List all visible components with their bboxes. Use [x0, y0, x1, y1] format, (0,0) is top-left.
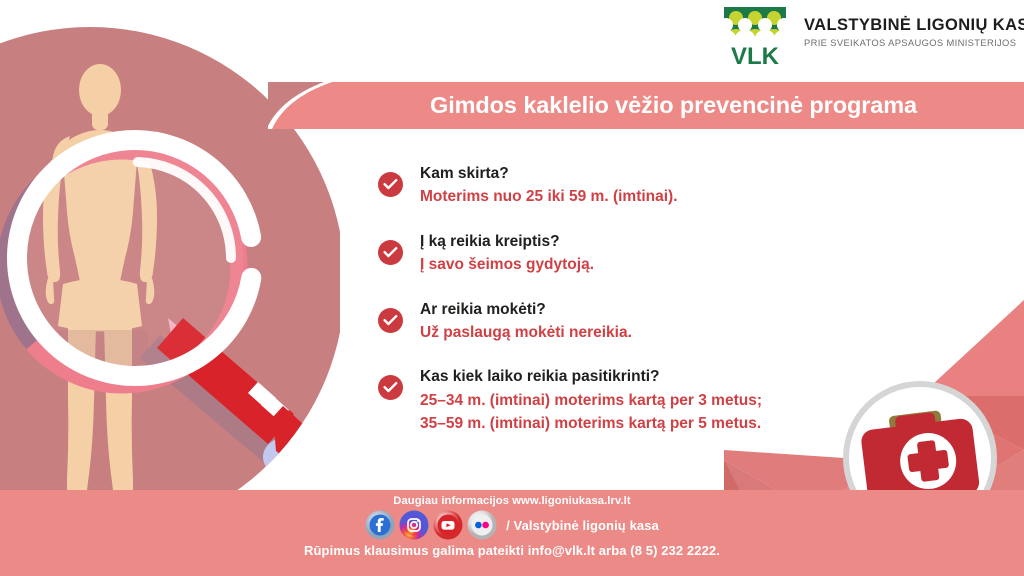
list-item-text: Kam skirta? Moterims nuo 25 iki 59 m. (i…: [420, 162, 678, 209]
list-item-text: Į ką reikia kreiptis? Į savo šeimos gydy…: [420, 230, 594, 277]
check-circle-icon: [378, 308, 403, 333]
item-answer: Už paslaugą mokėti nereikia.: [420, 321, 632, 345]
item-question: Į ką reikia kreiptis?: [420, 230, 594, 253]
bullet-list: Kam skirta? Moterims nuo 25 iki 59 m. (i…: [378, 162, 938, 436]
facebook-icon[interactable]: [365, 510, 395, 540]
magnifier-lens: [5, 140, 253, 385]
flickr-icon[interactable]: [467, 510, 497, 540]
footer-contact-line: Rūpimus klausimus galima pateikti info@v…: [304, 543, 720, 558]
check-circle-icon: [378, 172, 403, 197]
lens-glass: [27, 150, 243, 366]
youtube-icon[interactable]: [433, 510, 463, 540]
footer-info-line: Daugiau informacijos www.ligoniukasa.lrv…: [393, 495, 630, 507]
item-answer: 35–59 m. (imtinai) moterims kartą per 5 …: [420, 412, 762, 436]
list-item: Ar reikia mokėti? Už paslaugą mokėti ner…: [378, 298, 938, 345]
page-title: Gimdos kaklelio vėžio prevencinė program…: [430, 92, 917, 119]
social-handle-label: / Valstybinė ligonių kasa: [506, 518, 659, 533]
check-circle-icon: [378, 240, 403, 265]
logo-text-block: VALSTYBINĖ LIGONIŲ KASA PRIE SVEIKATOS A…: [804, 6, 1024, 48]
item-question: Kam skirta?: [420, 162, 678, 185]
social-links-row: / Valstybinė ligonių kasa: [365, 510, 659, 540]
footer-content: Daugiau informacijos www.ligoniukasa.lrv…: [0, 490, 1024, 576]
list-item-text: Kas kiek laiko reikia pasitikrinti? 25–3…: [420, 365, 762, 435]
check-circle-icon: [378, 375, 403, 400]
item-answer: 25–34 m. (imtinai) moterims kartą per 3 …: [420, 389, 762, 413]
item-question: Ar reikia mokėti?: [420, 298, 632, 321]
item-question: Kas kiek laiko reikia pasitikrinti?: [420, 365, 762, 388]
list-item: Kam skirta? Moterims nuo 25 iki 59 m. (i…: [378, 162, 938, 209]
list-item-text: Ar reikia mokėti? Už paslaugą mokėti ner…: [420, 298, 632, 345]
vlk-logo-icon: VLK: [718, 6, 794, 66]
poster-canvas: VLK VALSTYBINĖ LIGONIŲ KASA PRIE SVEIKAT…: [0, 0, 1024, 576]
instagram-icon[interactable]: [399, 510, 429, 540]
item-answer: Į savo šeimos gydytoją.: [420, 253, 594, 277]
logo-subtitle: PRIE SVEIKATOS APSAUGOS MINISTERIJOS: [804, 37, 1024, 48]
item-answer: Moterims nuo 25 iki 59 m. (imtinai).: [420, 185, 678, 209]
logo-wordmark: VLK: [731, 43, 780, 66]
vlk-logo-block: VLK VALSTYBINĖ LIGONIŲ KASA PRIE SVEIKAT…: [718, 6, 1024, 66]
title-band: Gimdos kaklelio vėžio prevencinė program…: [268, 82, 1024, 129]
list-item: Kas kiek laiko reikia pasitikrinti? 25–3…: [378, 365, 938, 435]
list-item: Į ką reikia kreiptis? Į savo šeimos gydy…: [378, 230, 938, 277]
logo-title: VALSTYBINĖ LIGONIŲ KASA: [804, 16, 1024, 34]
